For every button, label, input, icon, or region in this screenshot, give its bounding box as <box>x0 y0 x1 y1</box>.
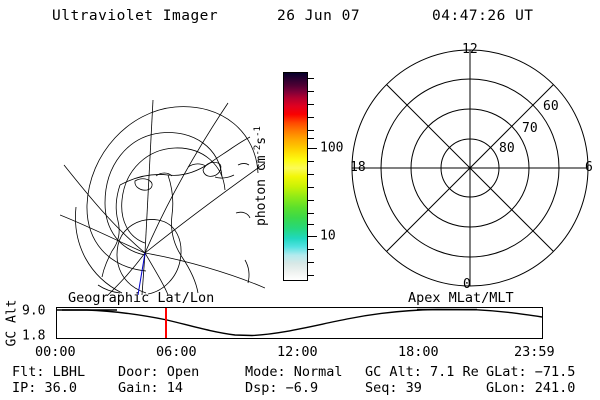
telemetry-footer: Flt: LBHL Door: Open Mode: Normal GC Alt… <box>0 364 600 398</box>
colorbar-units-exp2: -1 <box>253 126 263 137</box>
graticule-meridian <box>145 253 168 295</box>
coastline <box>238 164 249 166</box>
altitude-axis-label: GC Alt <box>5 300 20 347</box>
terminator-marker <box>138 253 145 295</box>
apex-polar-panel: 12 6 0 18 60 70 80 <box>346 42 596 294</box>
telemetry-gc-alt: GC Alt: 7.1 Re <box>365 364 479 380</box>
telemetry-dsp: Dsp: −6.9 <box>245 380 318 396</box>
coastline <box>245 260 249 283</box>
coastline <box>168 175 198 293</box>
graticule-meridian <box>145 163 265 253</box>
mlt-label-12: 12 <box>462 43 478 56</box>
colorbar-tick-label-10: 10 <box>320 230 336 243</box>
colorbar-panel: 100 10 photon cm-2s-1 <box>283 72 329 282</box>
time-tick-0600: 06:00 <box>156 344 197 360</box>
colorbar-gradient <box>283 72 308 281</box>
apex-panel-caption: Apex MLat/MLT <box>408 290 514 306</box>
graticule-meridian <box>145 100 153 253</box>
time-tick-2359: 23:59 <box>514 344 555 360</box>
coastline <box>215 175 234 178</box>
telemetry-gain: Gain: 14 <box>118 380 183 396</box>
coastline <box>188 164 206 167</box>
colorbar-units-exp1: -2 <box>253 145 263 156</box>
mlat-label-60: 60 <box>543 100 559 113</box>
telemetry-filter: Flt: LBHL <box>12 364 85 380</box>
mlat-label-80: 80 <box>499 142 515 155</box>
altitude-tick-high: 9.0 <box>22 305 45 318</box>
instrument-title: Ultraviolet Imager <box>52 8 218 24</box>
telemetry-ip: IP: 36.0 <box>12 380 77 396</box>
mlat-label-70: 70 <box>522 122 538 135</box>
coastline <box>135 179 152 190</box>
graticule-meridian <box>145 253 265 288</box>
graticule-lat-ring-inner <box>117 219 181 294</box>
altitude-curve-graphic <box>57 308 542 338</box>
geographic-panel-caption: Geographic Lat/Lon <box>68 290 214 306</box>
observation-date: 26 Jun 07 <box>277 8 360 24</box>
apex-polar-graphic <box>346 42 596 294</box>
time-tick-1200: 12:00 <box>277 344 318 360</box>
time-cursor <box>165 308 167 338</box>
graticule-lat-ring <box>87 107 258 271</box>
mlt-label-18: 18 <box>350 161 366 174</box>
altitude-tick-low: 1.8 <box>22 330 45 343</box>
mlt-label-6: 6 <box>585 161 593 174</box>
telemetry-mode: Mode: Normal <box>245 364 343 380</box>
altitude-curve <box>57 310 542 336</box>
altitude-strip-plot[interactable] <box>56 307 543 339</box>
colorbar-units-mid: s <box>254 137 269 145</box>
colorbar-units-main: photon cm <box>254 156 269 226</box>
time-tick-0000: 00:00 <box>35 344 76 360</box>
geographic-map-graphic <box>60 45 265 295</box>
telemetry-glat: GLat: −71.5 <box>486 364 575 380</box>
observation-time: 04:47:26 UT <box>432 8 534 24</box>
graticule-meridian <box>145 103 228 253</box>
time-tick-1800: 18:00 <box>398 344 439 360</box>
geographic-map-panel <box>60 45 265 295</box>
coastline <box>236 212 250 218</box>
graticule-meridian <box>60 215 145 253</box>
coastline <box>120 163 210 185</box>
graticule-lat-ring <box>75 207 122 293</box>
colorbar-tick-label-100: 100 <box>320 142 343 155</box>
telemetry-glon: GLon: 241.0 <box>486 380 575 396</box>
coastline <box>210 137 250 163</box>
telemetry-seq: Seq: 39 <box>365 380 422 396</box>
telemetry-door: Door: Open <box>118 364 199 380</box>
colorbar-axis-label: photon cm-2s-1 <box>253 126 269 226</box>
